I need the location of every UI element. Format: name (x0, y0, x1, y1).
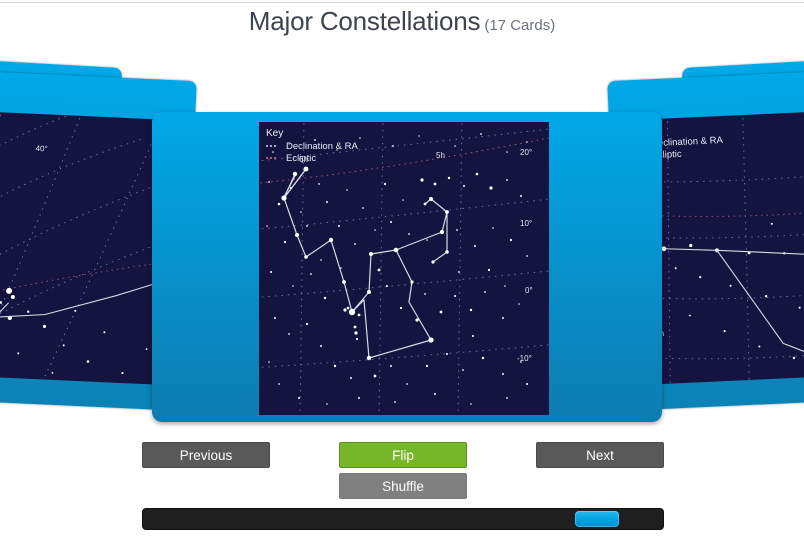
scrollbar-thumb[interactable] (575, 511, 619, 527)
shuffle-button[interactable]: Shuffle (339, 473, 467, 499)
flashcard-viewer: Major Constellations(17 Cards) (0, 0, 804, 539)
flip-button[interactable]: Flip (339, 442, 467, 468)
previous-button[interactable]: Previous (142, 442, 270, 468)
card-controls: Previous Flip Next Shuffle (0, 438, 804, 498)
card-scrollbar[interactable] (142, 508, 664, 530)
card-stack: 50° 3h 40° (0, 0, 804, 440)
active-flashcard[interactable]: Key Declination & RA Ecliptic 6h 5h 20° … (152, 112, 662, 422)
orion-star-chart: Key Declination & RA Ecliptic 6h 5h 20° … (259, 122, 549, 415)
sky-field-front (259, 122, 549, 415)
next-button[interactable]: Next (536, 442, 664, 468)
